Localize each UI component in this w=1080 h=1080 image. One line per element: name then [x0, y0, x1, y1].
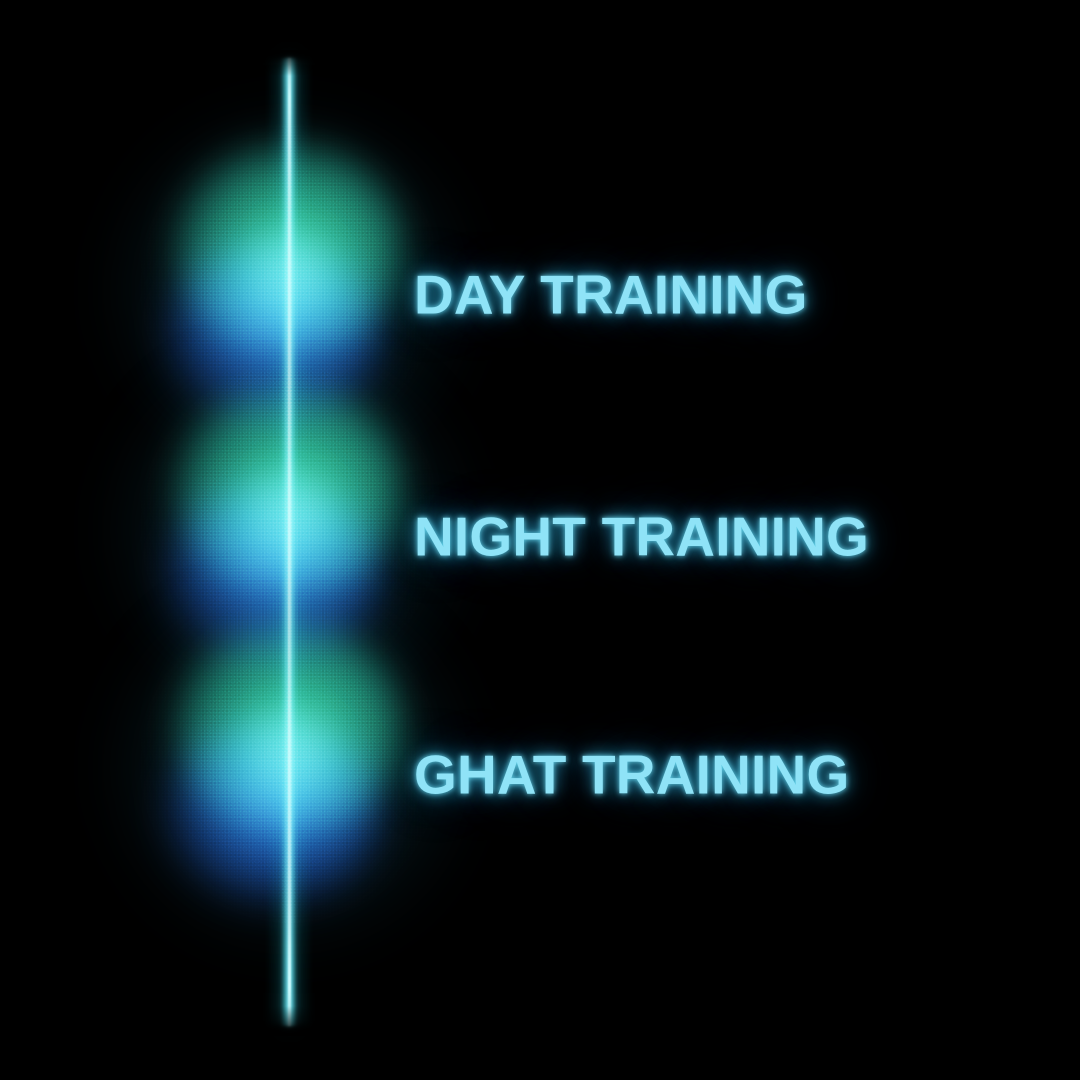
orb-blue-glow-icon [168, 240, 380, 424]
poster-canvas: DAY TRAINING NIGHT TRAINING GHAT TRAININ… [0, 0, 1080, 1080]
orb-blue-glow-icon [168, 480, 380, 664]
orb-hot-core-icon [240, 220, 340, 328]
node-label-day[interactable]: DAY TRAINING [414, 268, 808, 323]
orb-grain-texture [140, 603, 440, 923]
beam-outer-glow [265, 58, 313, 1026]
orb-green-glow-icon [175, 142, 403, 354]
orb-grain-texture [140, 365, 440, 685]
orb-green-glow-icon [175, 382, 403, 594]
node-label-night[interactable]: NIGHT TRAINING [414, 510, 869, 565]
orb-hot-core-icon [240, 460, 340, 568]
beam-bottom-fade [255, 1006, 325, 1036]
beam-core-line [288, 58, 291, 1026]
orb-green-glow-icon [175, 620, 403, 832]
beam-top-fade [255, 50, 325, 76]
node-label-ghat[interactable]: GHAT TRAINING [414, 748, 849, 803]
orb-blue-glow-icon [168, 718, 380, 902]
beam-inner-glow [281, 58, 297, 1026]
orb-hot-core-icon [240, 698, 340, 806]
orb-grain-texture [140, 125, 440, 445]
